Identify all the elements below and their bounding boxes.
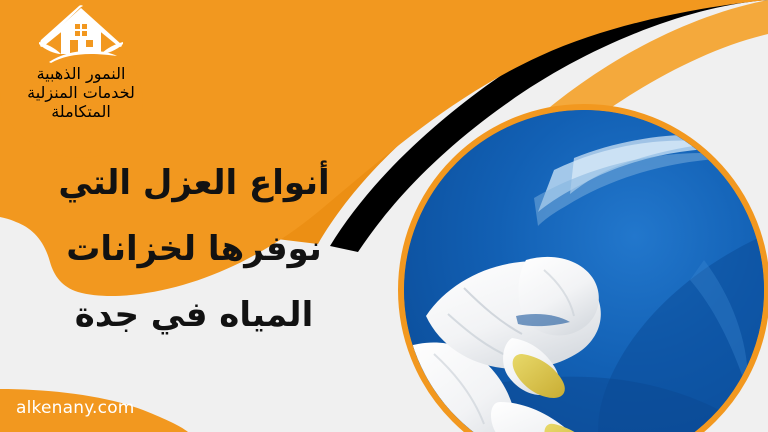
house-icon <box>33 4 129 64</box>
brand-logo[interactable]: النمور الذهبية لخدمات المنزلية المتكاملة <box>22 4 140 96</box>
site-url-watermark[interactable]: alkenany.com <box>16 398 135 418</box>
banner-canvas: النمور الذهبية لخدمات المنزلية المتكاملة… <box>0 0 768 432</box>
tank-photo <box>404 110 764 432</box>
headline-line-1: أنواع العزل التي <box>18 150 370 216</box>
headline-line-2: نوفرها لخزانات <box>18 216 370 282</box>
logo-tagline: لخدمات المنزلية المتكاملة <box>22 83 140 121</box>
logo-name: النمور الذهبية <box>22 64 140 83</box>
page-title: أنواع العزل التي نوفرها لخزانات المياه ف… <box>18 150 370 348</box>
headline-line-3: المياه في جدة <box>18 282 370 348</box>
worker-cleaning-tank-illustration <box>404 110 764 432</box>
